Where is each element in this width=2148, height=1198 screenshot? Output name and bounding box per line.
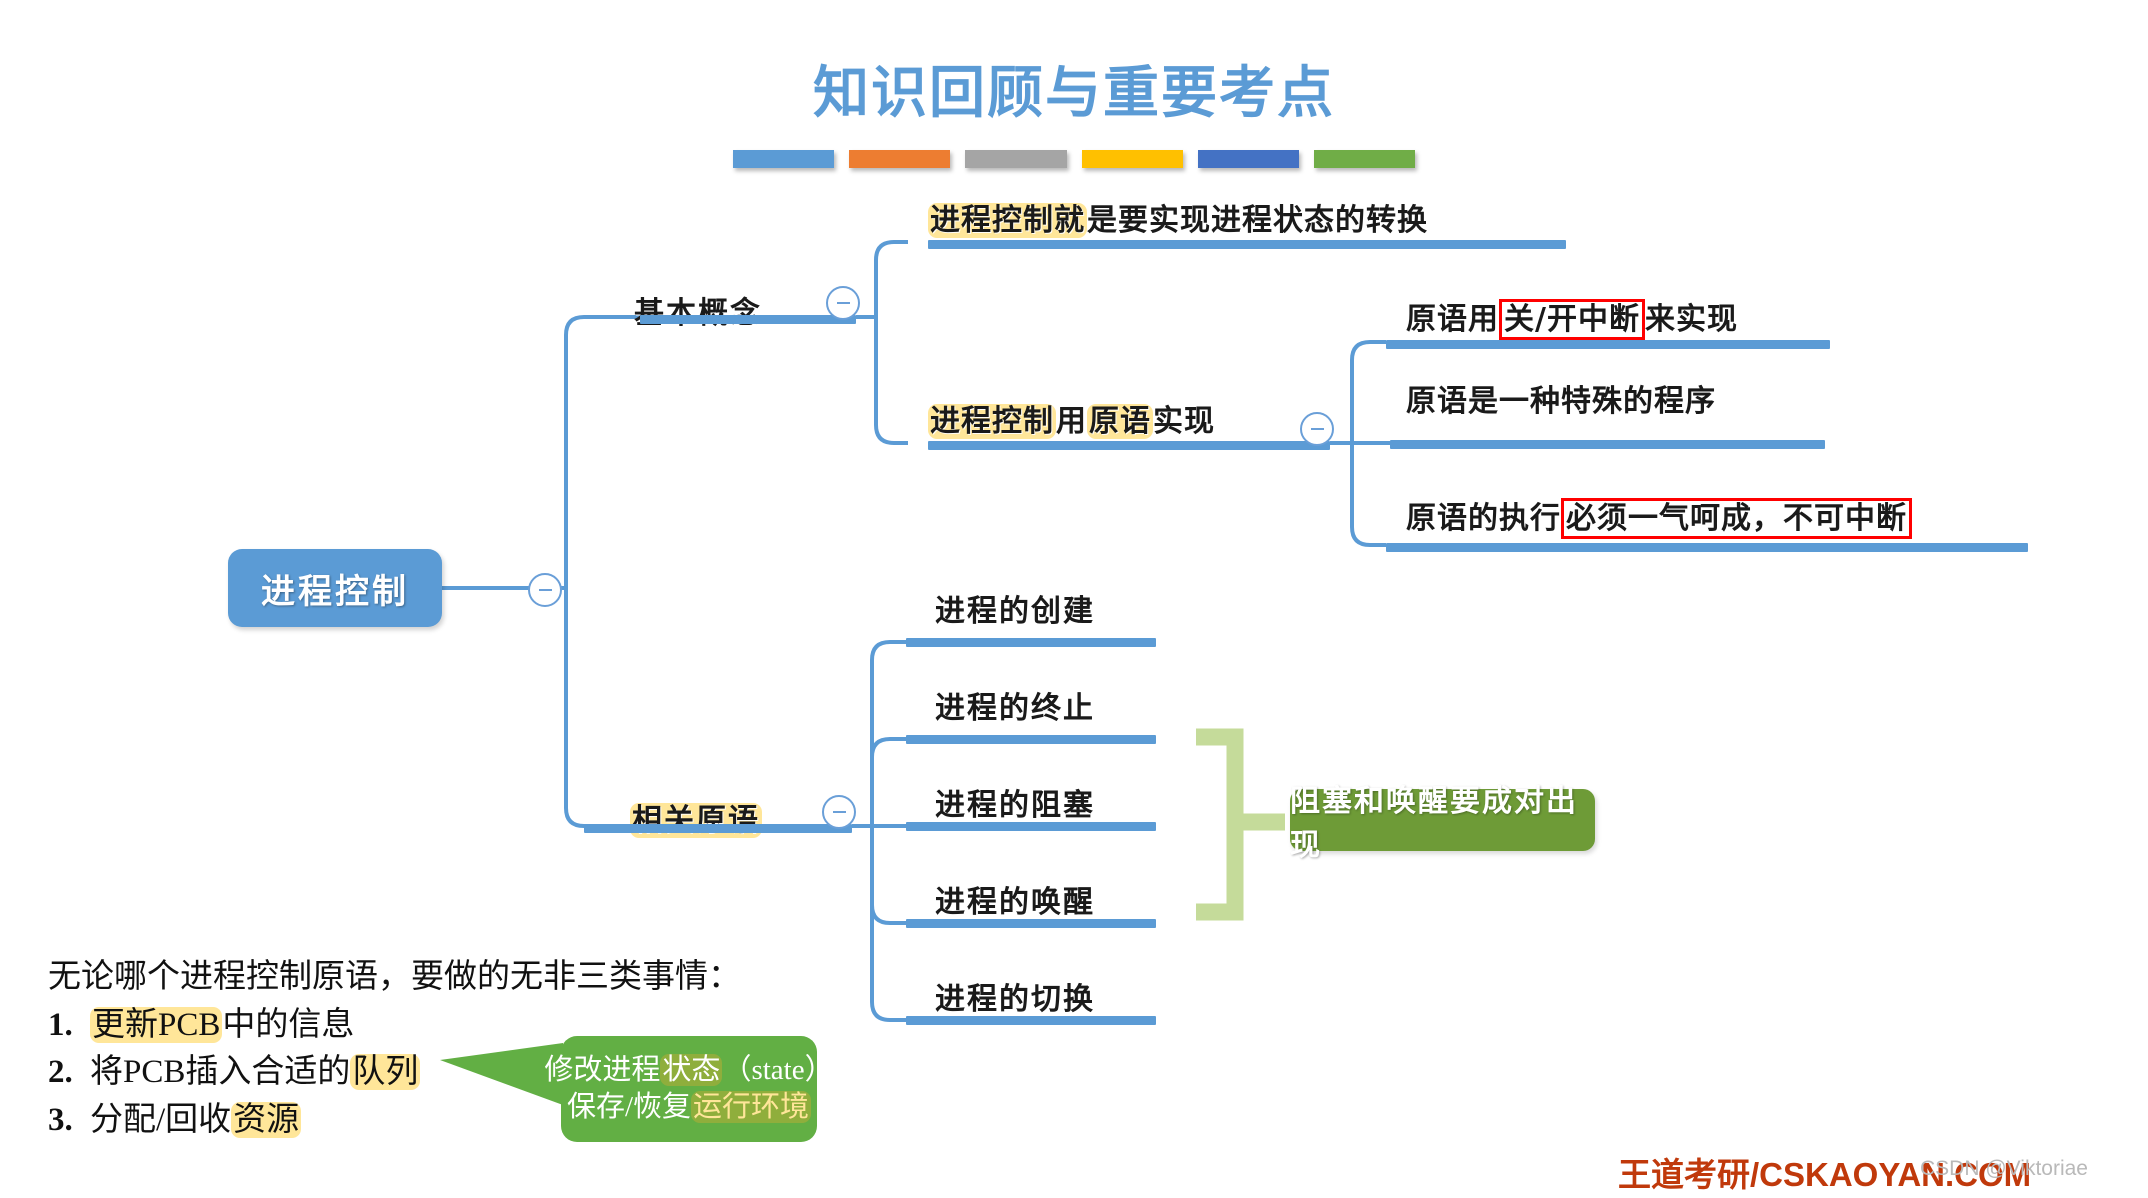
mindmap-node-process-switch[interactable]: 进程的切换 [935,974,1095,1018]
node-underline-basic-concept [640,315,856,324]
plain-span: 分配/回收 [90,1102,231,1138]
plain-span: 中的信息 [222,1007,354,1043]
highlight-span: 更新PCB [90,1007,222,1043]
node-underline-2-3 [906,822,1156,831]
speech-line-2: 保存/恢复运行环境 [567,1089,811,1126]
color-bar-3 [965,150,1066,168]
node-underline-1-2-3 [1386,543,2028,552]
plain-span: 修改进程 [544,1054,660,1086]
mindmap-node-primitive-atomic-execution[interactable]: 原语的执行必须一气呵成，不可中断 [1406,493,1912,537]
highlight-span: 队列 [350,1054,420,1090]
plain-span: 保存/恢复 [567,1091,691,1123]
color-bar-2 [849,150,950,168]
mindmap-node-process-control-uses-primitives[interactable]: 进程控制用原语实现 [928,396,1215,440]
color-bar-6 [1314,150,1415,168]
node-underline-2-1 [906,638,1156,647]
callout-speech-bubble: 修改进程状态（state） 保存/恢复运行环境 [561,1036,817,1142]
collapse-toggle-primitives[interactable] [1300,412,1334,446]
mindmap-node-process-creation[interactable]: 进程的创建 [935,586,1095,630]
list-item: 3.分配/回收资源 [48,1098,608,1144]
list-item-number: 2. [48,1050,90,1096]
plain-span: 将PCB插入合适的 [90,1054,350,1090]
list-item: 1.更新PCB中的信息 [48,1003,608,1049]
list-item-number: 3. [48,1098,90,1144]
csdn-watermark: CSDN @Viktoriae [1920,1157,2088,1181]
page-title: 知识回顾与重要考点 [0,48,2148,129]
highlight-span: 原语 [1087,404,1153,439]
node-underline-1-2 [928,441,1330,450]
mindmap-node-basic-concept[interactable]: 基本概念 [634,288,762,332]
node-underline-related-primitives [584,824,852,833]
collapse-toggle-related-primitives[interactable] [822,795,856,829]
color-bar-1 [733,150,834,168]
plain-span: 原语的执行 [1406,501,1561,536]
color-bar-5 [1198,150,1299,168]
node-underline-1-2-1 [1386,340,1830,349]
minus-icon [539,589,552,591]
plain-span: 用 [1056,404,1087,439]
node-underline-2-2 [906,735,1156,744]
mindmap-node-primitive-is-special-program[interactable]: 原语是一种特殊的程序 [1406,376,1716,420]
list-item: 2.将PCB插入合适的队列 [48,1050,608,1096]
minus-icon [837,302,850,304]
red-box-span: 必须一气呵成，不可中断 [1561,498,1912,539]
highlight-span: 进程控制就 [928,203,1087,238]
highlight-span: 运行环境 [691,1091,811,1123]
red-box-span: 关/开中断 [1499,299,1645,340]
plain-span: 原语用 [1406,302,1499,337]
collapse-toggle-basic-concept[interactable] [826,286,860,320]
mindmap-node-primitive-uses-interrupt-switch[interactable]: 原语用关/开中断来实现 [1406,294,1738,338]
highlight-span: 状态 [660,1054,722,1086]
callout-block-wakeup-pair: 阻塞和唤醒要成对出现 [1290,789,1595,851]
node-underline-1-2-2 [1390,440,1825,449]
color-bar-4 [1082,150,1183,168]
plain-span: 来实现 [1645,302,1738,337]
highlight-span: 进程控制 [928,404,1056,439]
list-item-number: 1. [48,1003,90,1049]
bottom-note-list: 1.更新PCB中的信息 2.将PCB插入合适的队列 3.分配/回收资源 [48,1003,608,1144]
node-underline-1-1 [928,240,1566,249]
minus-icon [833,811,846,813]
mindmap-root-node[interactable]: 进程控制 [228,549,442,627]
mindmap-node-process-termination[interactable]: 进程的终止 [935,683,1095,727]
node-underline-2-5 [906,1016,1156,1025]
highlight-span: 资源 [231,1102,301,1138]
minus-icon [1311,428,1324,430]
speech-line-1: 修改进程状态（state） [544,1052,833,1089]
node-underline-2-4 [906,919,1156,928]
bottom-note: 无论哪个进程控制原语，要做的无非三类事情： 1.更新PCB中的信息 2.将PCB… [48,955,608,1143]
bottom-note-lead: 无论哪个进程控制原语，要做的无非三类事情： [48,955,608,1001]
plain-span: 原语是一种特殊的程序 [1406,384,1716,419]
mindmap-node-process-wakeup[interactable]: 进程的唤醒 [935,877,1095,921]
plain-span: （state） [722,1054,833,1086]
collapse-toggle-root[interactable] [528,573,562,607]
color-bar-strip [733,150,1415,168]
plain-span: 是要实现进程状态的转换 [1087,203,1428,238]
mindmap-node-process-control-is-state-transition[interactable]: 进程控制就是要实现进程状态的转换 [928,195,1428,239]
plain-span: 实现 [1153,404,1215,439]
mindmap-node-process-block[interactable]: 进程的阻塞 [935,780,1095,824]
